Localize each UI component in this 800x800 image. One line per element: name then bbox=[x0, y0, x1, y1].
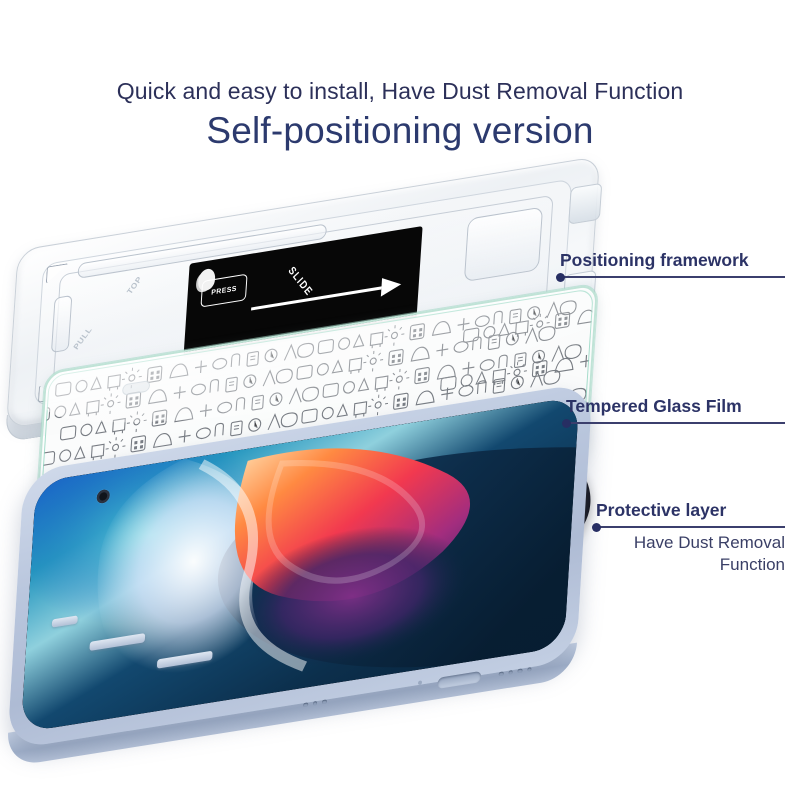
slide-arrow-icon bbox=[251, 280, 402, 312]
callout-label: Positioning framework bbox=[560, 250, 749, 271]
callout-label: Tempered Glass Film bbox=[566, 396, 742, 417]
callout-label: Protective layer bbox=[596, 500, 726, 521]
callout-sublabel: Have Dust Removal Function bbox=[596, 532, 785, 576]
leader-line bbox=[596, 526, 785, 528]
frame-rail bbox=[464, 207, 543, 283]
callout-sublabel-line2: Function bbox=[720, 555, 785, 574]
slide-label: SLIDE bbox=[285, 265, 314, 299]
subtitle-text: Quick and easy to install, Have Dust Rem… bbox=[0, 78, 800, 105]
callout-sublabel-line1: Have Dust Removal bbox=[634, 533, 785, 552]
frame-tab bbox=[568, 183, 602, 225]
product-infographic: Quick and easy to install, Have Dust Rem… bbox=[0, 0, 800, 800]
leader-dot bbox=[592, 523, 601, 532]
leader-dot bbox=[562, 419, 571, 428]
leader-line bbox=[566, 422, 785, 424]
page-title: Self-positioning version bbox=[0, 110, 800, 152]
leader-dot bbox=[556, 273, 565, 282]
leader-line bbox=[560, 276, 785, 278]
